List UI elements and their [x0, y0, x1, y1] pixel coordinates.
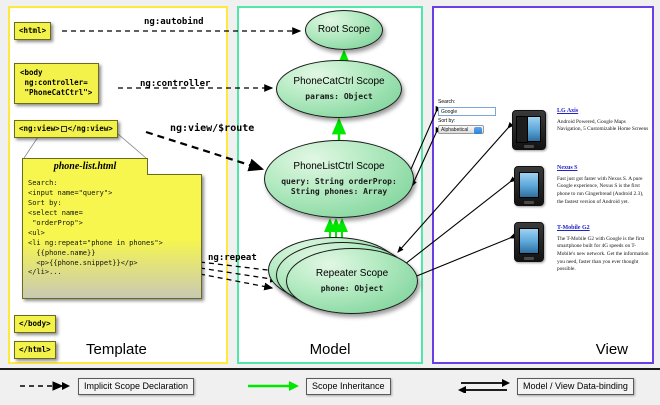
phone-snippet: The T-Mobile G2 with Google is the first… [557, 236, 649, 274]
code-tag-ngview: <ng:view></ng:view> [14, 120, 118, 138]
phone-home-button-2 [524, 201, 534, 204]
list-item: LG Axis Android Powered, Google Maps Nav… [557, 108, 649, 134]
sort-label: Sort by: [438, 118, 498, 126]
scope-repeater-title: Repeater Scope [316, 268, 388, 280]
ngview-placeholder-icon [61, 126, 67, 132]
ngview-open-tag: <ng:view> [19, 124, 60, 133]
phone-name-link[interactable]: Nexus S [557, 165, 649, 173]
code-tag-html-open: <html> [14, 22, 51, 40]
label-ng-repeat: ng:repeat [208, 253, 257, 263]
green-arrow-icon [246, 379, 300, 393]
panel-model-label: Model [239, 341, 421, 358]
legend-label-data-binding: Model / View Data-binding [517, 378, 634, 395]
legend-item-implicit-scope: Implicit Scope Declaration [18, 378, 194, 395]
phone-snippet: Android Powered, Google Maps Navigation,… [557, 119, 649, 134]
legend-label-scope-inheritance: Scope Inheritance [306, 378, 391, 395]
phone-screen-2 [519, 172, 539, 198]
diagram-root: Template Model View [0, 0, 660, 405]
label-ng-view-route: ng:view/$route [170, 123, 254, 134]
scope-root: Root Scope [305, 10, 383, 50]
legend-item-data-binding: Model / View Data-binding [457, 378, 634, 395]
panel-view-label: View [434, 341, 652, 358]
scope-phonecatctrl: PhoneCatCtrl Scope params: Object [276, 60, 402, 118]
code-tag-body-open: <body ng:controller= "PhoneCatCtrl"> [14, 63, 99, 104]
scope-phonelistctrl-props: query: String orderProp: String phones: … [265, 177, 413, 197]
legend-item-scope-inheritance: Scope Inheritance [246, 378, 391, 395]
search-input[interactable]: Google [438, 107, 496, 116]
list-item: Nexus S Fast just got faster with Nexus … [557, 165, 649, 206]
legend: Implicit Scope Declaration Scope Inherit… [0, 368, 660, 405]
label-ng-autobind: ng:autobind [144, 17, 204, 27]
phone-thumbnail-icon-1 [512, 110, 546, 150]
scope-repeater: Repeater Scope phone: Object [286, 248, 418, 314]
phone-thumbnail-icon-3 [514, 222, 544, 262]
scope-phonecatctrl-props: params: Object [305, 92, 372, 102]
double-arrow-icon [457, 379, 511, 393]
sort-select[interactable]: Alphabetical [438, 125, 484, 134]
phone-home-button-3 [524, 257, 534, 260]
code-tag-body-close: </body> [14, 315, 56, 333]
view-search-form: Search: Google Sort by: Alphabetical [438, 99, 498, 134]
search-label: Search: [438, 99, 498, 107]
label-ng-controller: ng:controller [140, 79, 210, 89]
scope-phonecatctrl-title: PhoneCatCtrl Scope [293, 76, 384, 88]
ngview-close-tag: </ng:view> [68, 124, 113, 133]
phone-name-link[interactable]: T-Mobile G2 [557, 225, 649, 233]
scope-phonelistctrl-title: PhoneListCtrl Scope [293, 161, 384, 173]
scope-root-title: Root Scope [318, 24, 370, 36]
phone-home-button-1 [524, 145, 534, 148]
phone-name-link[interactable]: LG Axis [557, 108, 649, 116]
code-tag-html-close: </html> [14, 341, 56, 359]
note-code-phone-list: Search: <input name="query"> Sort by: <s… [22, 174, 202, 299]
phone-screen-1 [527, 116, 541, 142]
phone-screen-3 [519, 228, 539, 254]
legend-label-implicit-scope: Implicit Scope Declaration [78, 378, 194, 395]
dashed-arrow-icon [18, 379, 72, 393]
scope-repeater-props: phone: Object [321, 284, 384, 294]
list-item: T-Mobile G2 The T-Mobile G2 with Google … [557, 225, 649, 274]
phone-snippet: Fast just got faster with Nexus S. A pur… [557, 176, 649, 207]
phone-thumbnail-icon-2 [514, 166, 544, 206]
scope-phonelistctrl: PhoneListCtrl Scope query: String orderP… [264, 140, 414, 218]
note-title-phone-list: phone-list.html [22, 158, 148, 175]
